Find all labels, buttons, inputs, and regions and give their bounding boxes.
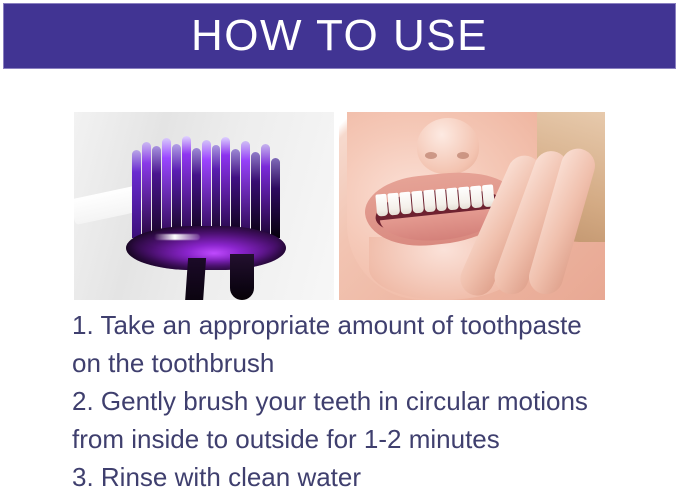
tooth — [435, 189, 448, 212]
toothpaste-drip — [184, 258, 206, 300]
toothbrush-head — [126, 226, 286, 270]
bristle — [212, 145, 221, 238]
bristle — [192, 148, 201, 238]
nostril-right — [457, 152, 469, 159]
tooth — [399, 192, 412, 215]
bristle — [132, 150, 141, 238]
instruction-line-3: 2. Gently brush your teeth in circular m… — [72, 382, 662, 420]
bristle — [152, 146, 161, 238]
bristle — [241, 141, 250, 238]
tooth — [387, 193, 400, 216]
toothbrush-highlight — [154, 234, 200, 240]
photo-strip — [74, 112, 605, 300]
bristle — [172, 144, 181, 238]
toothbrush-bristles — [132, 130, 280, 238]
tooth — [411, 191, 424, 214]
tooth — [375, 194, 388, 217]
instruction-line-2: on the toothbrush — [72, 344, 662, 382]
nostril-left — [425, 152, 437, 159]
smile-photo — [339, 112, 605, 300]
instruction-line-5: 3. Rinse with clean water — [72, 458, 662, 496]
toothbrush-illustration — [126, 130, 286, 300]
bristle — [221, 137, 230, 238]
bristle — [261, 144, 270, 238]
nose — [417, 118, 479, 174]
instructions-list: 1. Take an appropriate amount of toothpa… — [72, 306, 662, 496]
bristle — [182, 136, 191, 238]
page-title: HOW TO USE — [191, 14, 488, 58]
bristle — [251, 152, 260, 238]
how-to-use-banner: HOW TO USE — [3, 3, 676, 69]
bristle — [142, 142, 151, 238]
instruction-line-1: 1. Take an appropriate amount of toothpa… — [72, 306, 662, 344]
toothbrush-photo — [74, 112, 334, 300]
toothpaste-drip-secondary — [230, 254, 254, 300]
bristle — [271, 158, 280, 238]
tooth — [470, 185, 483, 208]
tooth — [458, 186, 471, 209]
tooth — [447, 187, 460, 210]
bristle — [231, 149, 240, 238]
instruction-line-4: from inside to outside for 1-2 minutes — [72, 420, 662, 458]
bristle — [202, 140, 211, 238]
bristle — [162, 138, 171, 238]
hand — [499, 158, 605, 300]
tooth — [423, 190, 436, 213]
